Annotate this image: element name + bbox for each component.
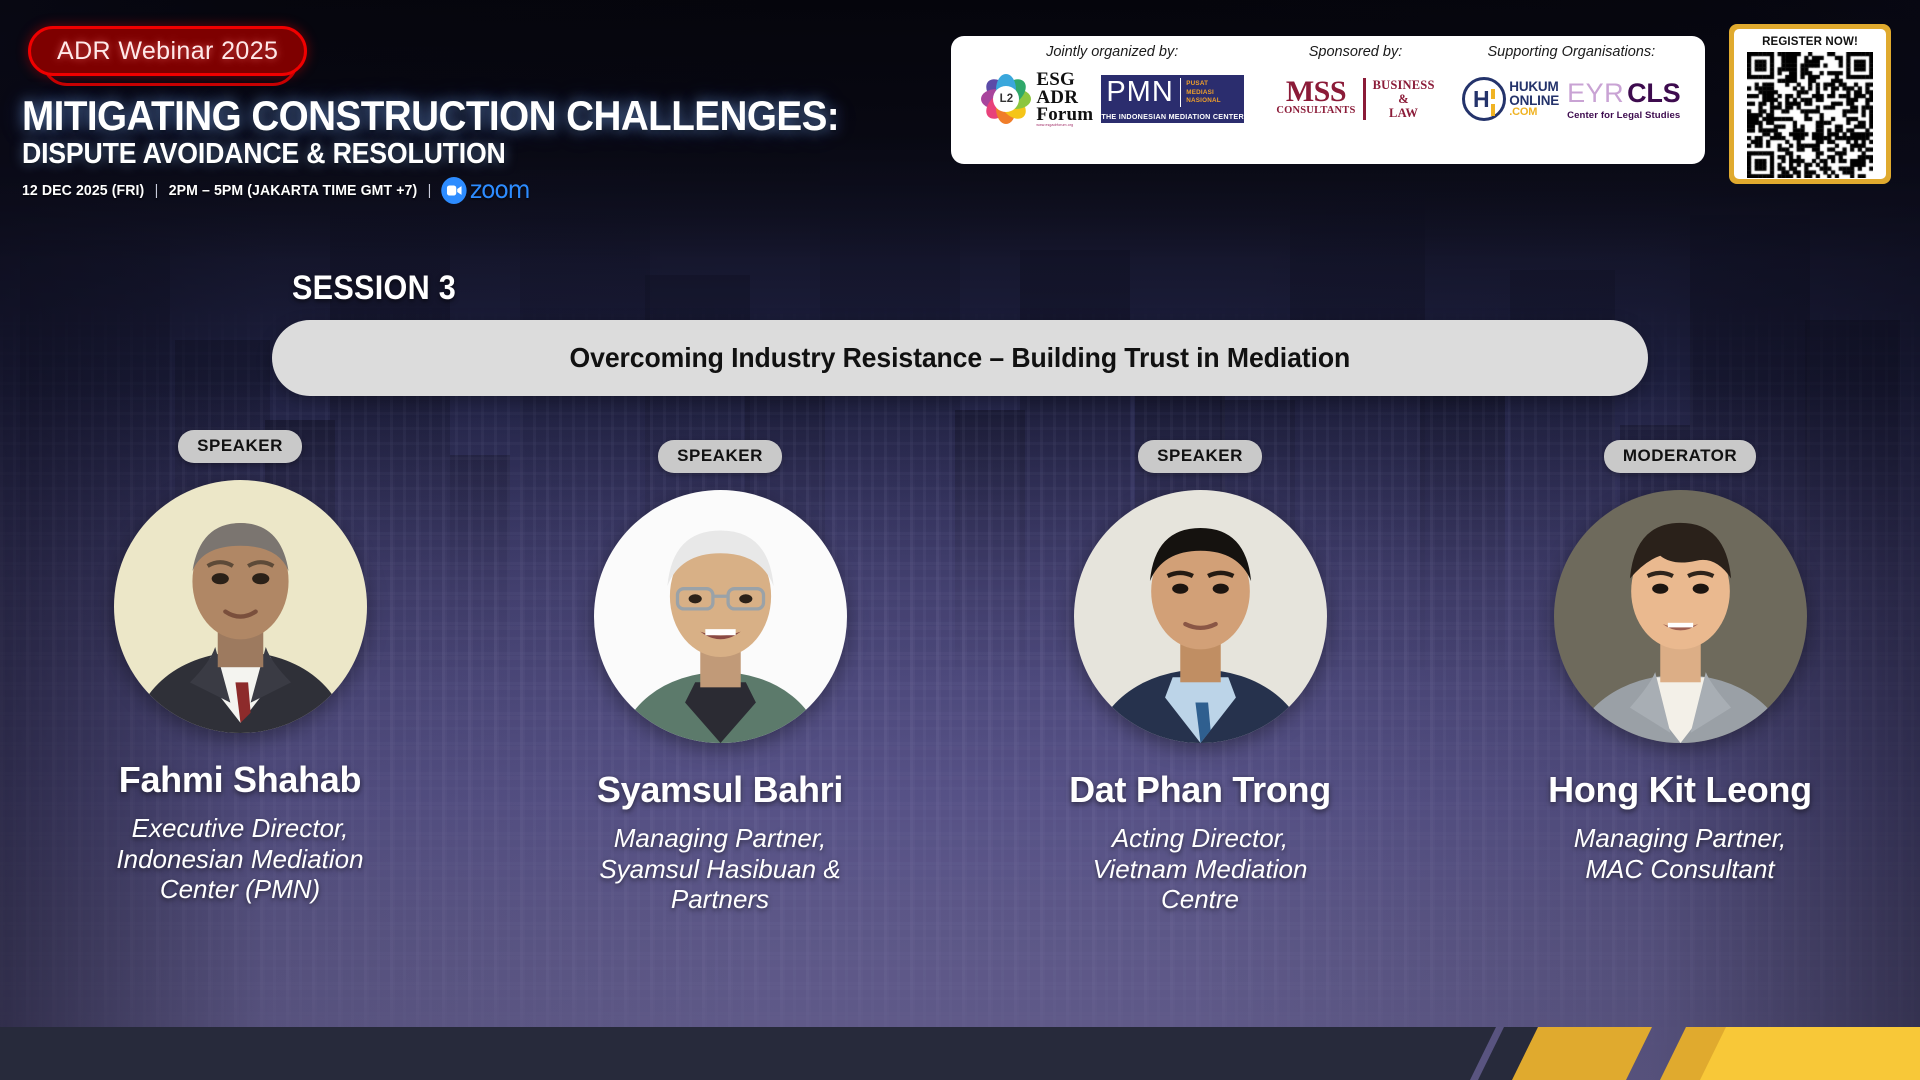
eyrcls-logo: EYR CLS Center for Legal Studies	[1567, 78, 1680, 121]
hukumonline-logo: H HUKUM ONLINE .COM	[1462, 77, 1559, 121]
speaker-name: Dat Phan Trong	[1069, 769, 1331, 811]
logo-group-supporters: Supporting Organisations: H HUKUM ONLINE…	[1452, 44, 1691, 134]
hukumonline-tick-lower	[1491, 104, 1495, 116]
event-time: 2PM – 5PM (JAKARTA TIME GMT +7)	[169, 182, 418, 199]
pmn-subtext: PUSAT MEDIASI NASIONAL	[1186, 80, 1220, 105]
hukumonline-line-2: ONLINE	[1509, 94, 1559, 107]
eyrcls-wordmark: EYR CLS	[1567, 78, 1680, 109]
esg-flower-icon: L2	[980, 73, 1032, 125]
logo-group-sponsors-logos: MSS CONSULTANTS BUSINESS & LAW	[1276, 64, 1434, 134]
bottom-chevron-gold-3	[1700, 1027, 1920, 1080]
esg-adr-forum-logo: L2 ESG ADR Forum www.esgadrforum.org	[980, 71, 1093, 127]
pmn-caption: THE INDONESIAN MEDIATION CENTER	[1101, 110, 1244, 123]
meta-separator-1: |	[155, 182, 159, 199]
session-title-pill: Overcoming Industry Resistance – Buildin…	[272, 320, 1648, 396]
poster-canvas: ADR Webinar 2025 MITIGATING CONSTRUCTION…	[0, 0, 1920, 1080]
esg-line-3: Forum	[1036, 106, 1093, 124]
speaker-role: Managing Partner, Syamsul Hasibuan & Par…	[599, 823, 840, 915]
role-badge: SPEAKER	[178, 430, 302, 463]
qr-code-icon[interactable]	[1747, 52, 1873, 178]
speaker-name: Fahmi Shahab	[119, 759, 361, 801]
eyrcls-eyr: EYR	[1567, 78, 1624, 109]
speaker-card: MODERATOR	[1440, 440, 1920, 915]
zoom-wordmark: zoom	[470, 175, 529, 204]
logo-group-organizers: Jointly organized by: L2 ESG ADR Forum w…	[965, 44, 1259, 134]
video-camera-icon	[442, 177, 467, 204]
speaker-card: SPEAKER Syamsul Bah	[480, 440, 960, 915]
speaker-card: SPEAKER Dat Phan Trong A	[960, 440, 1440, 915]
page-subtitle: DISPUTE AVOIDANCE & RESOLUTION	[22, 140, 506, 169]
event-date: 12 DEC 2025 (FRI)	[22, 182, 144, 199]
speaker-list: SPEAKER	[0, 440, 1920, 915]
adr-badge-label: ADR Webinar 2025	[57, 37, 278, 66]
pmn-logo-top: PMN PUSAT MEDIASI NASIONAL	[1101, 75, 1244, 110]
esg-line-1: ESG	[1036, 71, 1093, 89]
pmn-logo: PMN PUSAT MEDIASI NASIONAL THE INDONESIA…	[1101, 75, 1244, 123]
avatar	[114, 480, 367, 733]
avatar	[594, 490, 847, 743]
logo-group-organizers-logos: L2 ESG ADR Forum www.esgadrforum.org PMN…	[980, 64, 1244, 134]
hukumonline-wordmark: HUKUM ONLINE .COM	[1509, 80, 1559, 118]
avatar	[1554, 490, 1807, 743]
speaker-name: Syamsul Bahri	[597, 769, 843, 811]
partner-logo-bar: Jointly organized by: L2 ESG ADR Forum w…	[951, 36, 1705, 164]
session-label: SESSION 3	[292, 269, 456, 308]
mss-left: MSS CONSULTANTS	[1276, 78, 1355, 120]
register-qr-inner: REGISTER NOW!	[1734, 29, 1886, 179]
speaker-role: Executive Director, Indonesian Mediation…	[116, 813, 363, 905]
hukumonline-line-1: HUKUM	[1509, 80, 1559, 93]
hukumonline-h-mark: H	[1473, 88, 1490, 111]
page-title: MITIGATING CONSTRUCTION CHALLENGES:	[22, 95, 839, 137]
esg-adr-forum-wordmark: ESG ADR Forum www.esgadrforum.org	[1036, 71, 1093, 127]
mss-acronym: MSS	[1286, 78, 1346, 105]
logo-group-label-supporters: Supporting Organisations:	[1487, 44, 1655, 60]
logo-group-label-organizers: Jointly organized by:	[1046, 44, 1178, 60]
speaker-role: Managing Partner, MAC Consultant	[1574, 823, 1786, 884]
eyrcls-tagline: Center for Legal Studies	[1567, 110, 1680, 121]
hukumonline-tick-upper	[1491, 89, 1495, 99]
role-badge: SPEAKER	[1138, 440, 1262, 473]
mss-consultants-word: CONSULTANTS	[1276, 105, 1355, 116]
avatar	[1074, 490, 1327, 743]
pmn-letters: PMN	[1106, 78, 1179, 107]
speaker-card: SPEAKER	[0, 430, 480, 905]
register-now-label: REGISTER NOW!	[1762, 36, 1858, 48]
register-qr-box[interactable]: REGISTER NOW!	[1729, 24, 1891, 184]
event-meta: 12 DEC 2025 (FRI) | 2PM – 5PM (JAKARTA T…	[22, 176, 529, 205]
adr-webinar-badge: ADR Webinar 2025	[28, 26, 307, 76]
hukumonline-circle-icon: H	[1462, 77, 1506, 121]
zoom-logo: zoom	[442, 176, 530, 205]
logo-group-label-sponsors: Sponsored by:	[1309, 44, 1403, 60]
meta-separator-2: |	[428, 182, 432, 199]
speaker-name: Hong Kit Leong	[1548, 769, 1812, 811]
mss-divider	[1363, 78, 1366, 120]
logo-group-supporters-logos: H HUKUM ONLINE .COM EYR CLS Ce	[1462, 64, 1680, 134]
mss-business-law: BUSINESS & LAW	[1373, 78, 1435, 120]
eyrcls-cls: CLS	[1627, 78, 1680, 109]
speaker-role: Acting Director, Vietnam Mediation Centr…	[1093, 823, 1308, 915]
session-title: Overcoming Industry Resistance – Buildin…	[570, 342, 1351, 374]
role-badge: MODERATOR	[1604, 440, 1756, 473]
logo-group-sponsors: Sponsored by: MSS CONSULTANTS BUSINESS &…	[1259, 44, 1451, 134]
role-badge: SPEAKER	[658, 440, 782, 473]
mss-consultants-logo: MSS CONSULTANTS BUSINESS & LAW	[1276, 78, 1434, 120]
hukumonline-line-3: .COM	[1509, 107, 1559, 118]
pmn-divider	[1180, 78, 1182, 107]
adr-badge-pill: ADR Webinar 2025	[28, 26, 307, 76]
